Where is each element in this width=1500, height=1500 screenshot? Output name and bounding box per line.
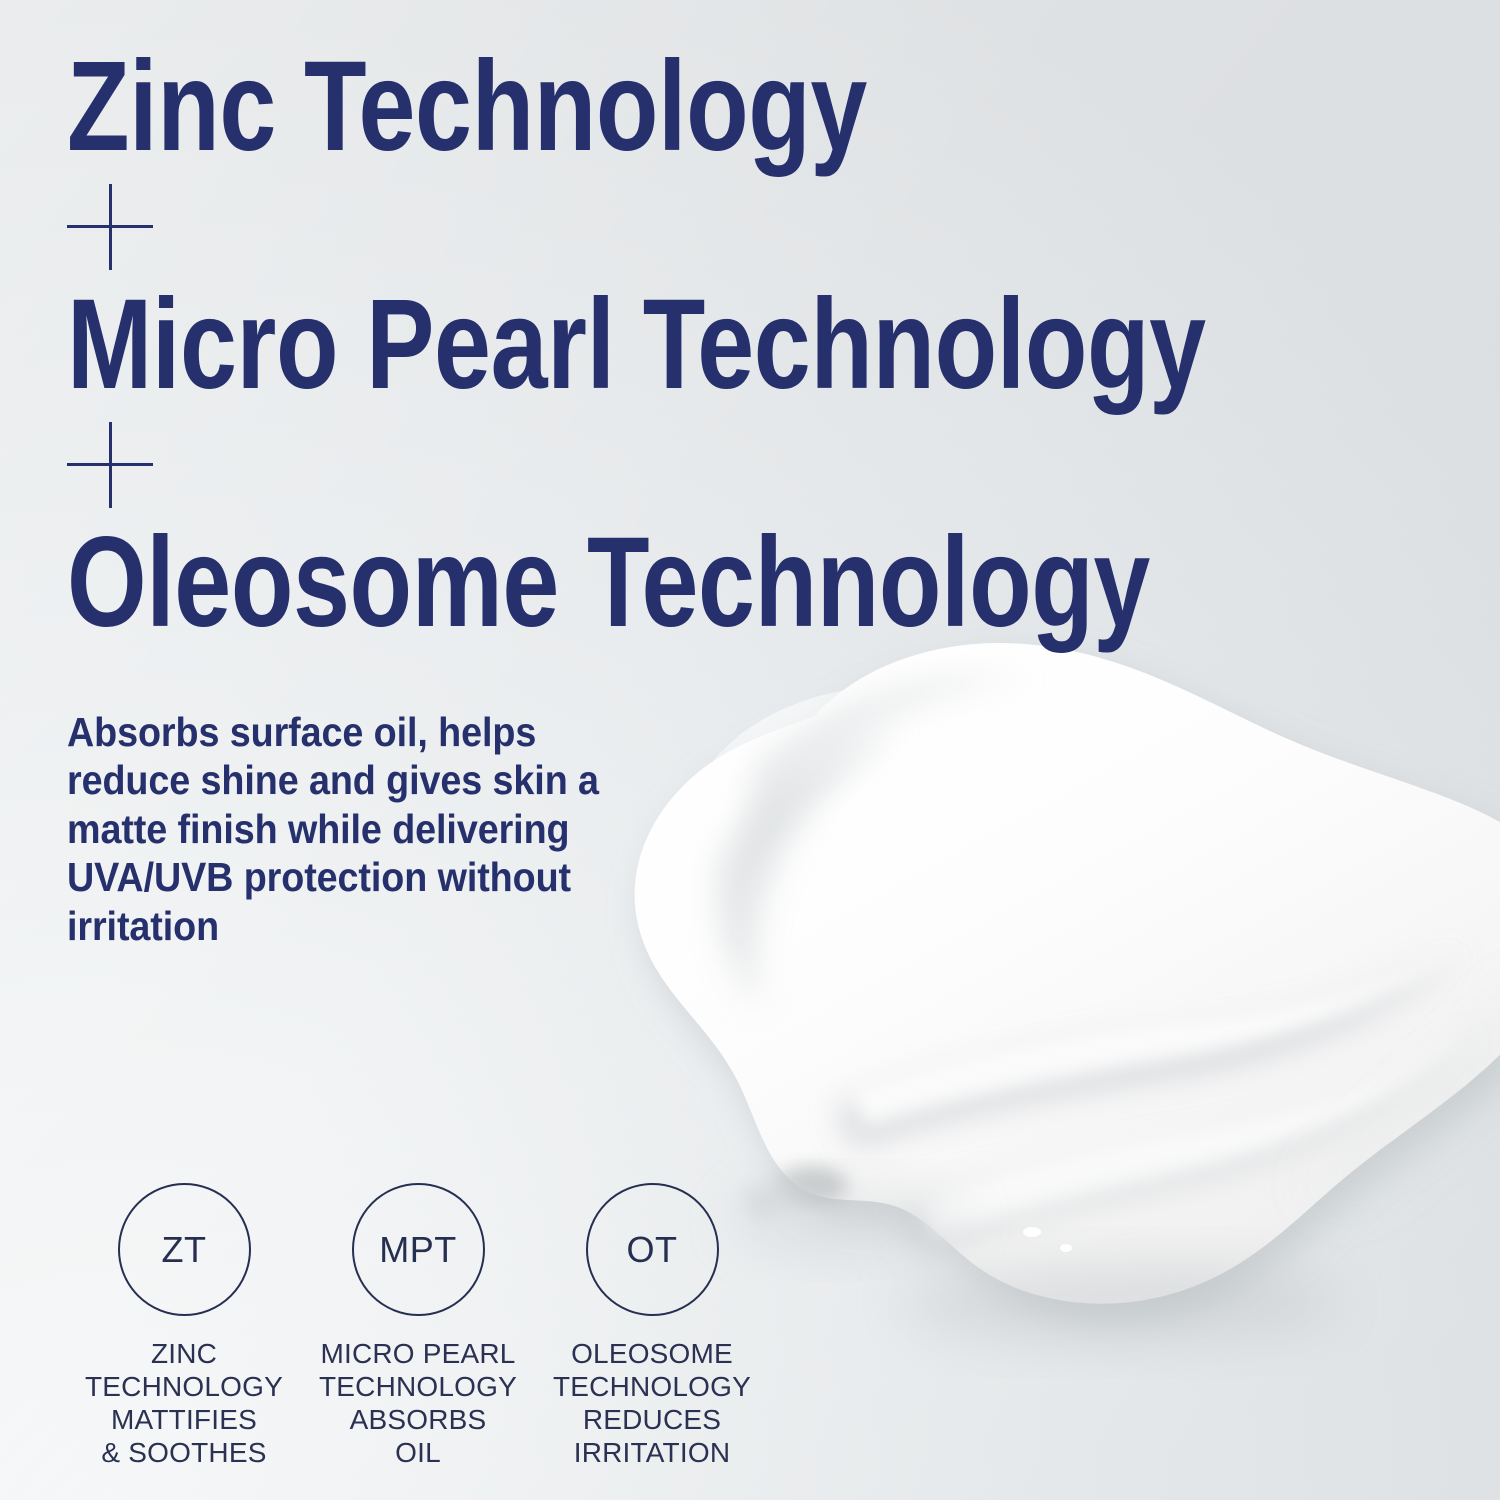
- headline-stack: Zinc Technology Micro Pearl Technology O…: [67, 48, 1397, 641]
- plus-icon-1: [67, 184, 153, 270]
- badge-abbr-zt: ZT: [162, 1229, 207, 1271]
- content-layer: Zinc Technology Micro Pearl Technology O…: [0, 0, 1500, 1500]
- badge-caption-ot: OLEOSOME TECHNOLOGY REDUCES IRRITATION: [553, 1337, 751, 1469]
- badge-caption-zt: ZINC TECHNOLOGY MATTIFIES & SOOTHES: [85, 1337, 283, 1469]
- badge-zinc-technology: ZT ZINC TECHNOLOGY MATTIFIES & SOOTHES: [67, 1183, 301, 1469]
- badge-oleosome-technology: OT OLEOSOME TECHNOLOGY REDUCES IRRITATIO…: [535, 1183, 769, 1469]
- product-description: Absorbs surface oil, helps reduce shine …: [67, 708, 637, 950]
- technology-badge-row: ZT ZINC TECHNOLOGY MATTIFIES & SOOTHES M…: [67, 1183, 769, 1469]
- headline-micro-pearl-technology: Micro Pearl Technology: [67, 286, 1131, 404]
- badge-circle-mpt: MPT: [352, 1183, 485, 1316]
- headline-zinc-technology: Zinc Technology: [67, 48, 1131, 166]
- badge-circle-ot: OT: [586, 1183, 719, 1316]
- plus-icon-2: [67, 422, 153, 508]
- product-feature-poster: Zinc Technology Micro Pearl Technology O…: [0, 0, 1500, 1500]
- badge-caption-mpt: MICRO PEARL TECHNOLOGY ABSORBS OIL: [319, 1337, 517, 1469]
- headline-oleosome-technology: Oleosome Technology: [67, 524, 1131, 642]
- badge-abbr-ot: OT: [627, 1229, 678, 1271]
- badge-abbr-mpt: MPT: [379, 1229, 457, 1271]
- badge-circle-zt: ZT: [118, 1183, 251, 1316]
- badge-micro-pearl-technology: MPT MICRO PEARL TECHNOLOGY ABSORBS OIL: [301, 1183, 535, 1469]
